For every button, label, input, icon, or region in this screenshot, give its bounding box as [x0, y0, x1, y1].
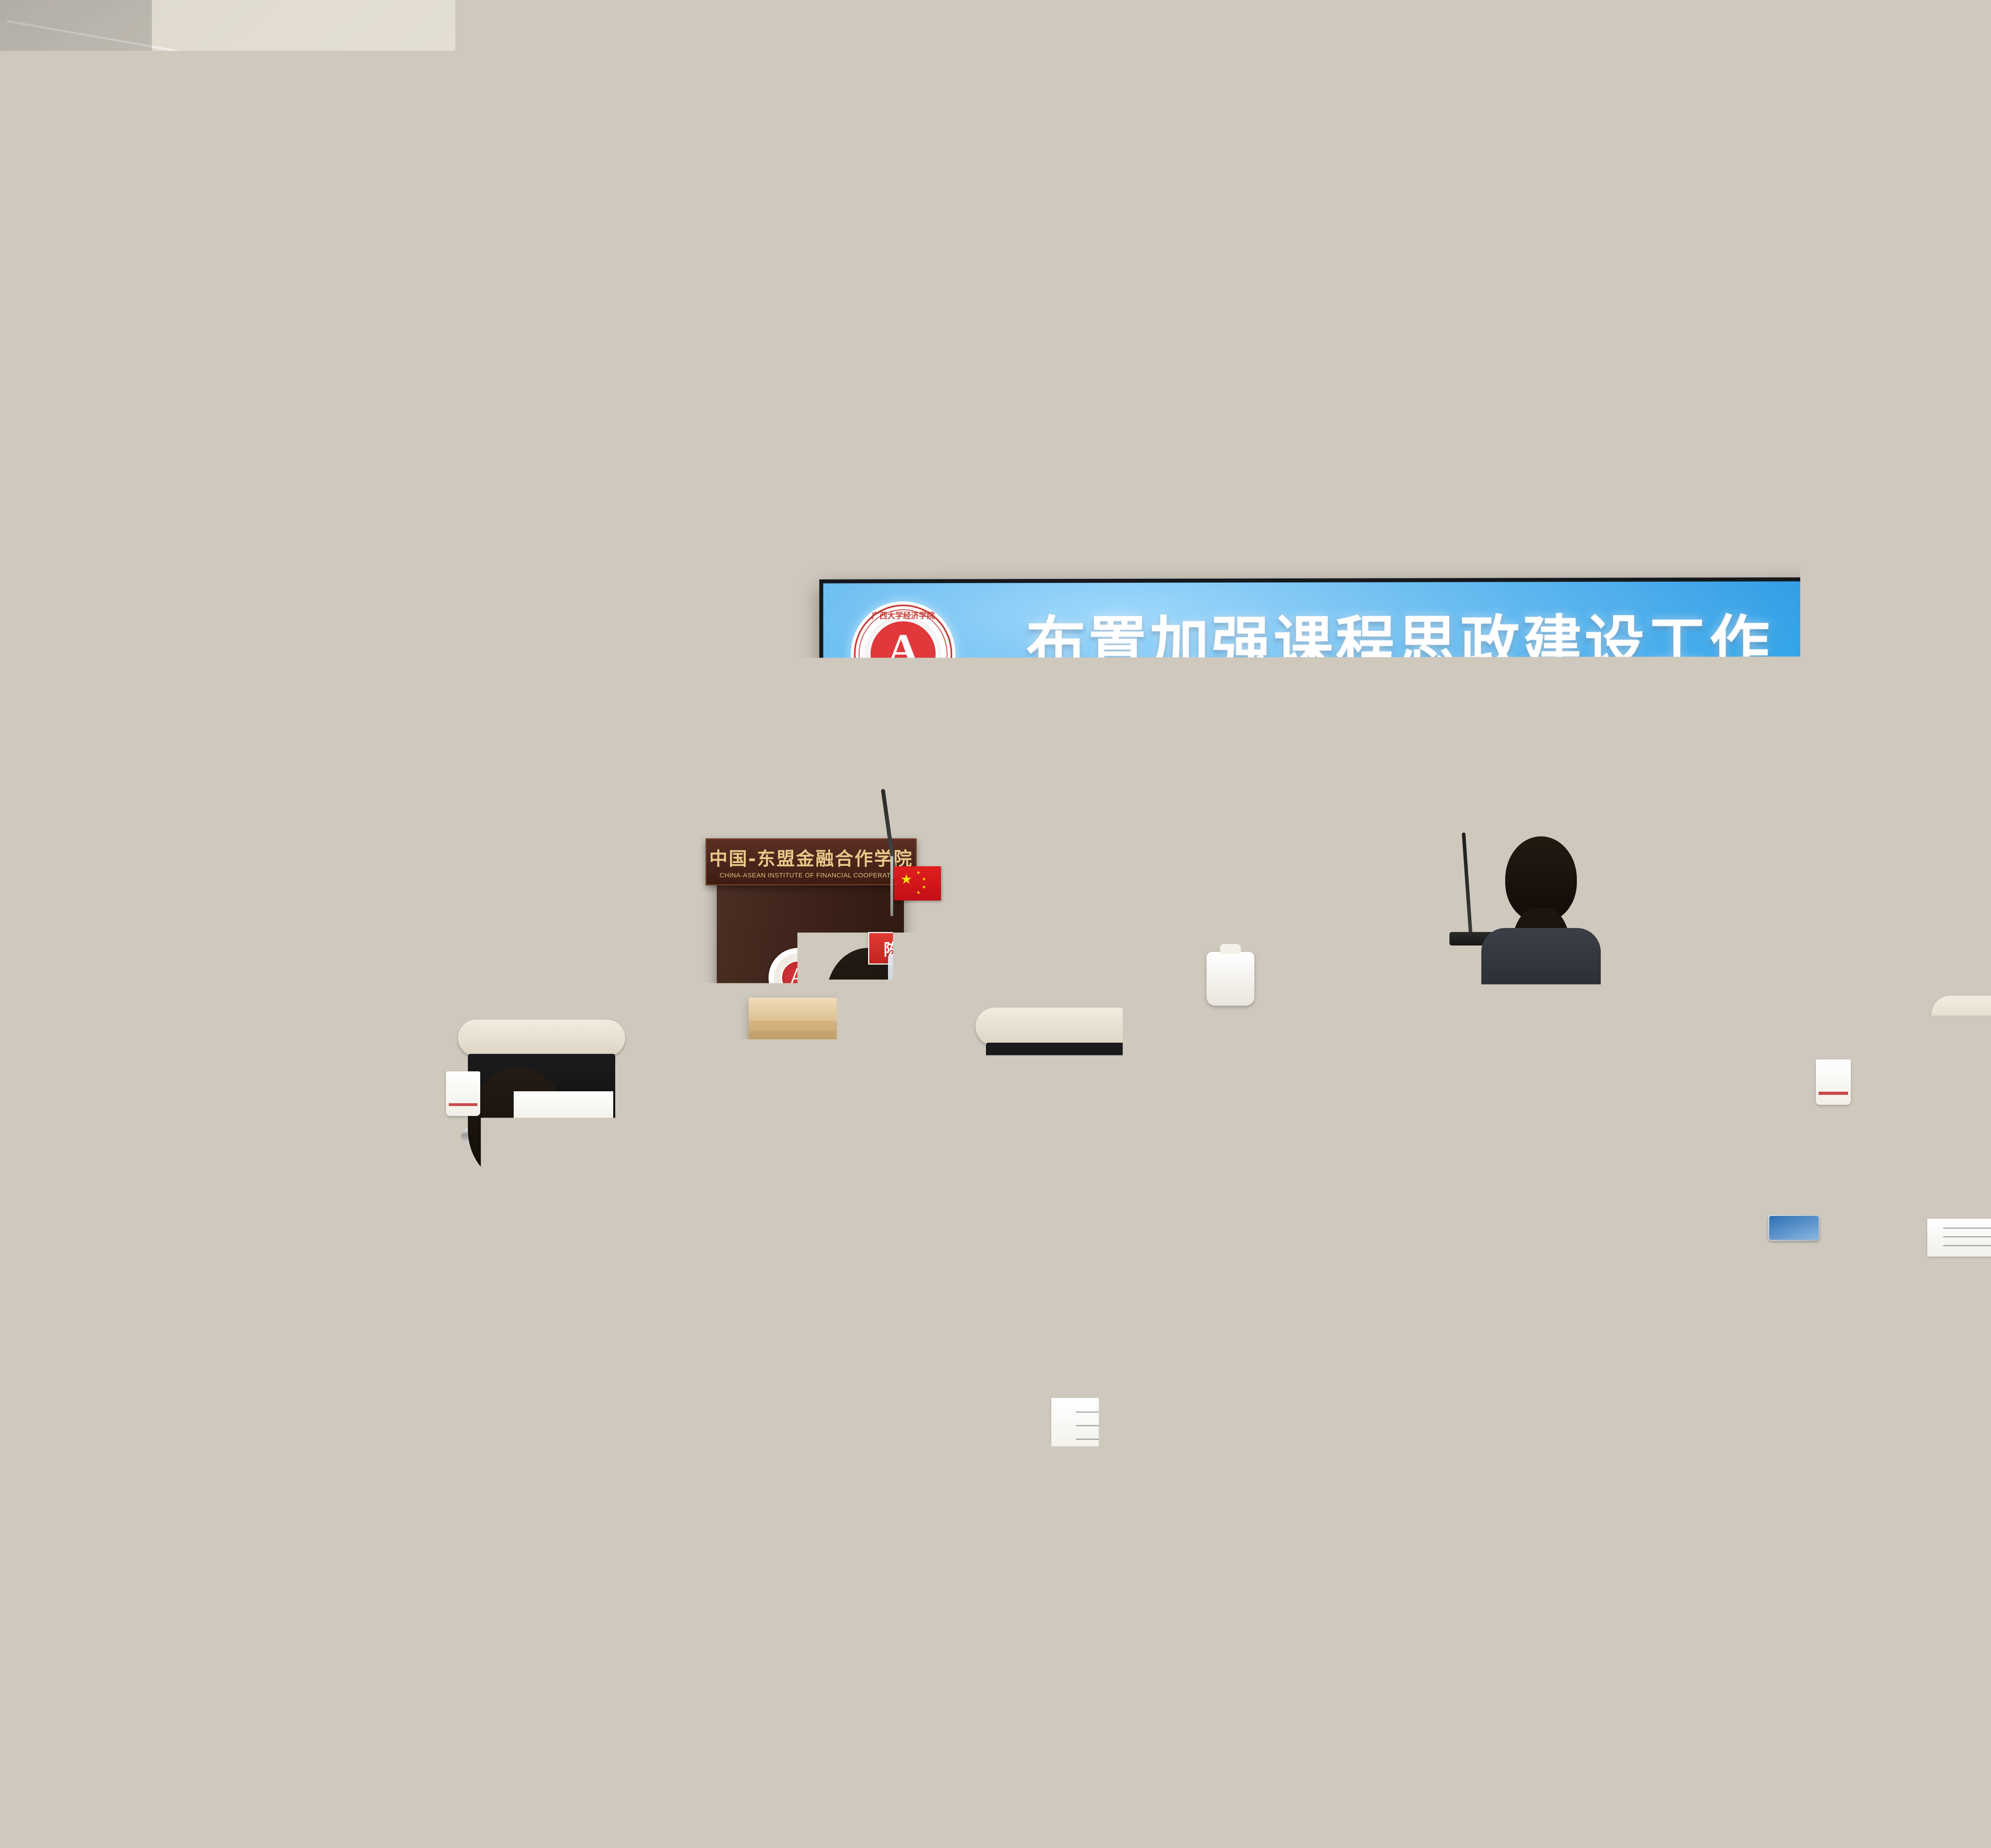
foreground-chair-center[interactable]: [780, 1553, 1203, 1848]
audience-member: [1593, 1047, 1780, 1326]
water-bottle: [888, 1189, 925, 1302]
water-bottle: [721, 1051, 753, 1149]
presenter-glasses-icon: [1093, 835, 1144, 847]
wall-switch-plate[interactable]: [179, 787, 210, 797]
paper-cup: [1832, 964, 1862, 1003]
university-emblem-logo: 广西大学经济学院 А 1937 广西大学中国—东盟金融合作学院: [851, 601, 956, 707]
paper-cup: [1147, 956, 1176, 994]
audience-member: [1895, 852, 1991, 1020]
slide-title-line2: 家庭家教家风专题党课: [953, 691, 1846, 769]
emblem-ring-text-top: 广西大学经济学院: [872, 609, 935, 621]
name-card: 杨璜: [1175, 952, 1254, 984]
paper-cup: [1816, 1059, 1851, 1105]
handout-paper: [1943, 1083, 1991, 1115]
audience-member: [111, 964, 247, 1171]
speaker-bracket: [492, 601, 507, 677]
emblem-year: 1937: [889, 675, 917, 688]
wall-control-panel[interactable]: [119, 777, 163, 813]
water-bottle: [888, 954, 916, 1039]
paper-cup: [446, 1071, 480, 1116]
slide-title-line1: 布置加强课程思政建设工作: [953, 605, 1846, 683]
wifi-access-point-icon: [1318, 0, 1426, 70]
audience-member: [255, 960, 390, 1167]
foreground-chair-left[interactable]: [0, 1498, 653, 1848]
emblem-glyph: А: [887, 628, 919, 672]
smartphone[interactable]: [1768, 1215, 1820, 1241]
lecture-hall-photo: 广西大学经济学院 А 1937 广西大学中国—东盟金融合作学院 布置加强课程思政…: [0, 0, 1991, 1848]
paper-cup: [1011, 1067, 1046, 1112]
emblem-ring-text-bottom: 广西大学中国—东盟金融合作学院: [856, 691, 951, 700]
wall-switch-plate[interactable]: [179, 803, 210, 813]
handout-paper: [1911, 1290, 1991, 1338]
wall-speaker-left: [514, 613, 601, 745]
audience-member: [1481, 836, 1601, 1020]
handout-paper: [1927, 1219, 1991, 1257]
desk-foreground-right: [1712, 1470, 1991, 1693]
handout-paper: [514, 1091, 613, 1122]
wall-reveal-joint: [731, 514, 740, 856]
